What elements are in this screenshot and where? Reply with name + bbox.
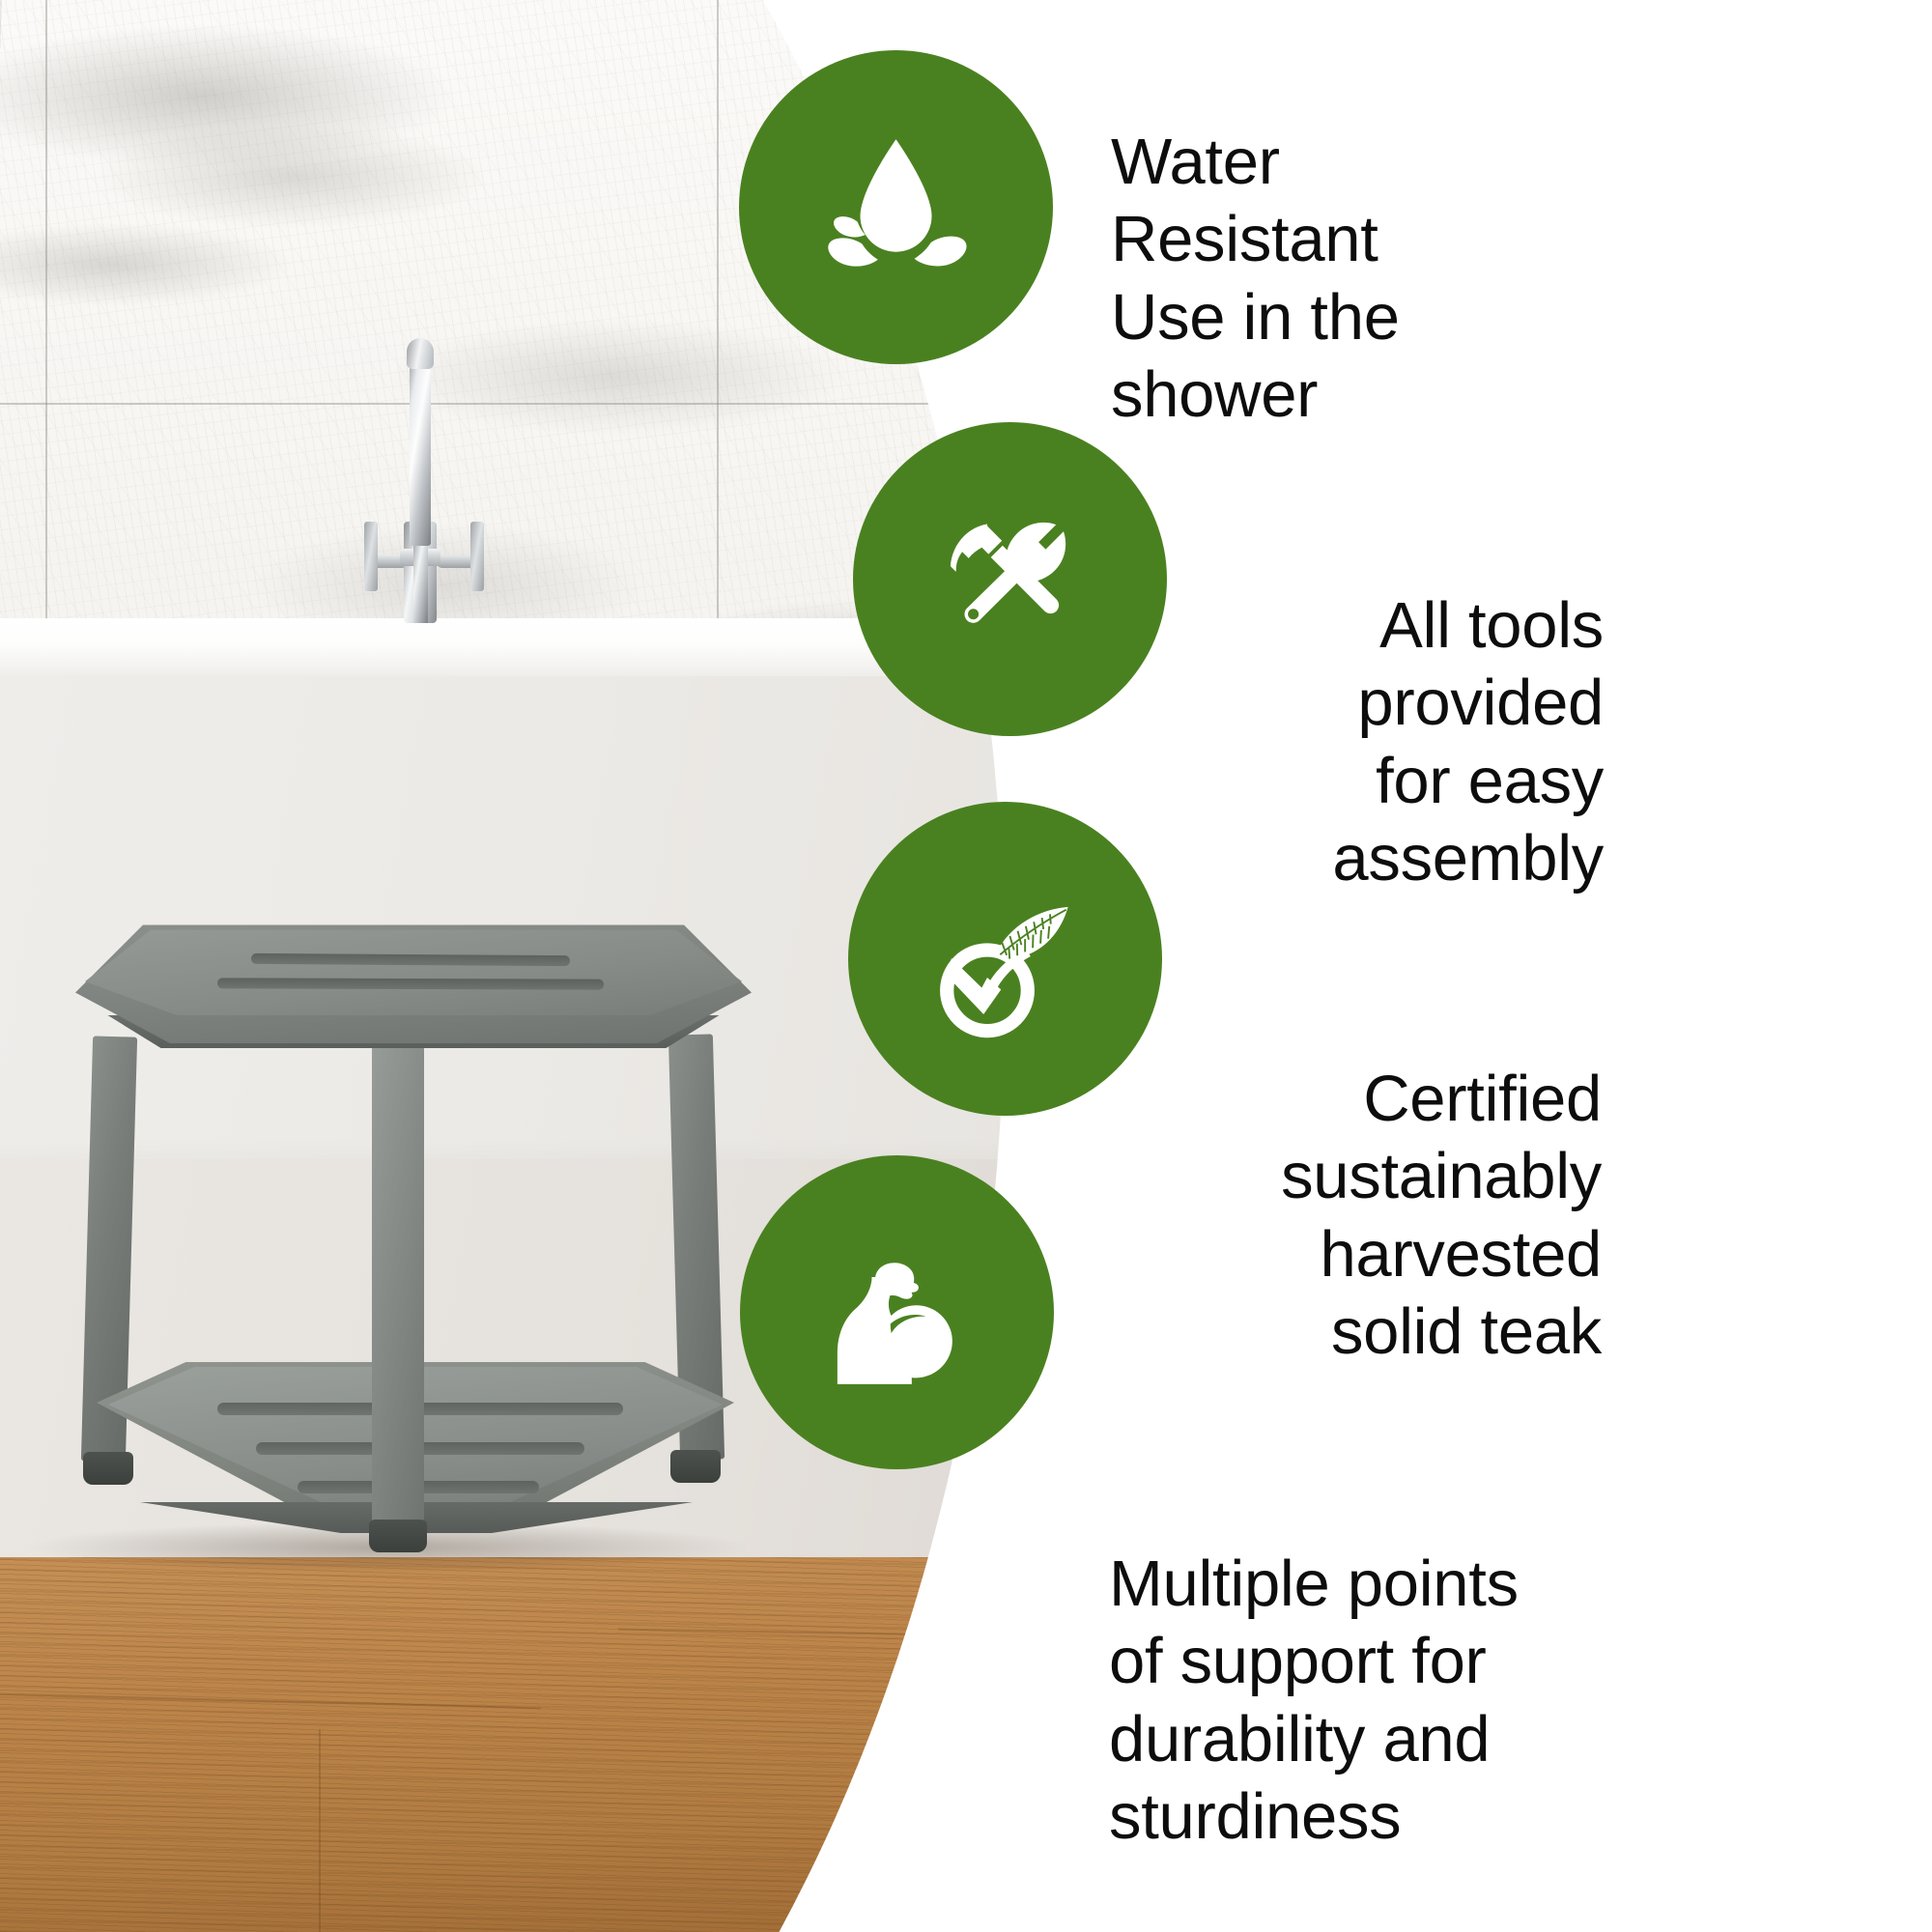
stool-foot-right — [670, 1450, 721, 1483]
stool-foot-front — [369, 1520, 427, 1552]
infographic-canvas: Water Resistant Use in the shower All to… — [0, 0, 1932, 1932]
faucet-spout — [410, 343, 431, 546]
faucet-handle-left — [364, 522, 378, 591]
feature-label-water-resistant: Water Resistant Use in the shower — [1111, 124, 1526, 435]
stool-top-groove — [251, 953, 570, 966]
feature-label-multiple-support-points: Multiple points of support for durabilit… — [1109, 1546, 1563, 1857]
hammer-wrench-icon — [853, 422, 1167, 736]
flexing-bicep-icon — [740, 1155, 1054, 1469]
stool-leg-front — [372, 1046, 424, 1529]
faucet-spout-cap — [407, 338, 434, 369]
stool-top-groove — [217, 978, 604, 989]
stool-foot-left — [83, 1452, 133, 1485]
feature-label-sustainable-teak: Certified sustainably harvested solid te… — [1177, 1061, 1602, 1372]
leaf-check-icon — [848, 802, 1162, 1116]
floor-plank-seam — [319, 1729, 321, 1932]
water-drop-splash-icon — [739, 50, 1053, 364]
wood-floor — [0, 1557, 1121, 1932]
faucet-handle-right — [470, 522, 484, 591]
stool-top-face — [85, 926, 742, 1015]
teak-corner-stool — [58, 923, 763, 1541]
grout-line-horizontal — [0, 403, 1121, 405]
feature-label-tools-provided: All tools provided for easy assembly — [1198, 587, 1604, 898]
